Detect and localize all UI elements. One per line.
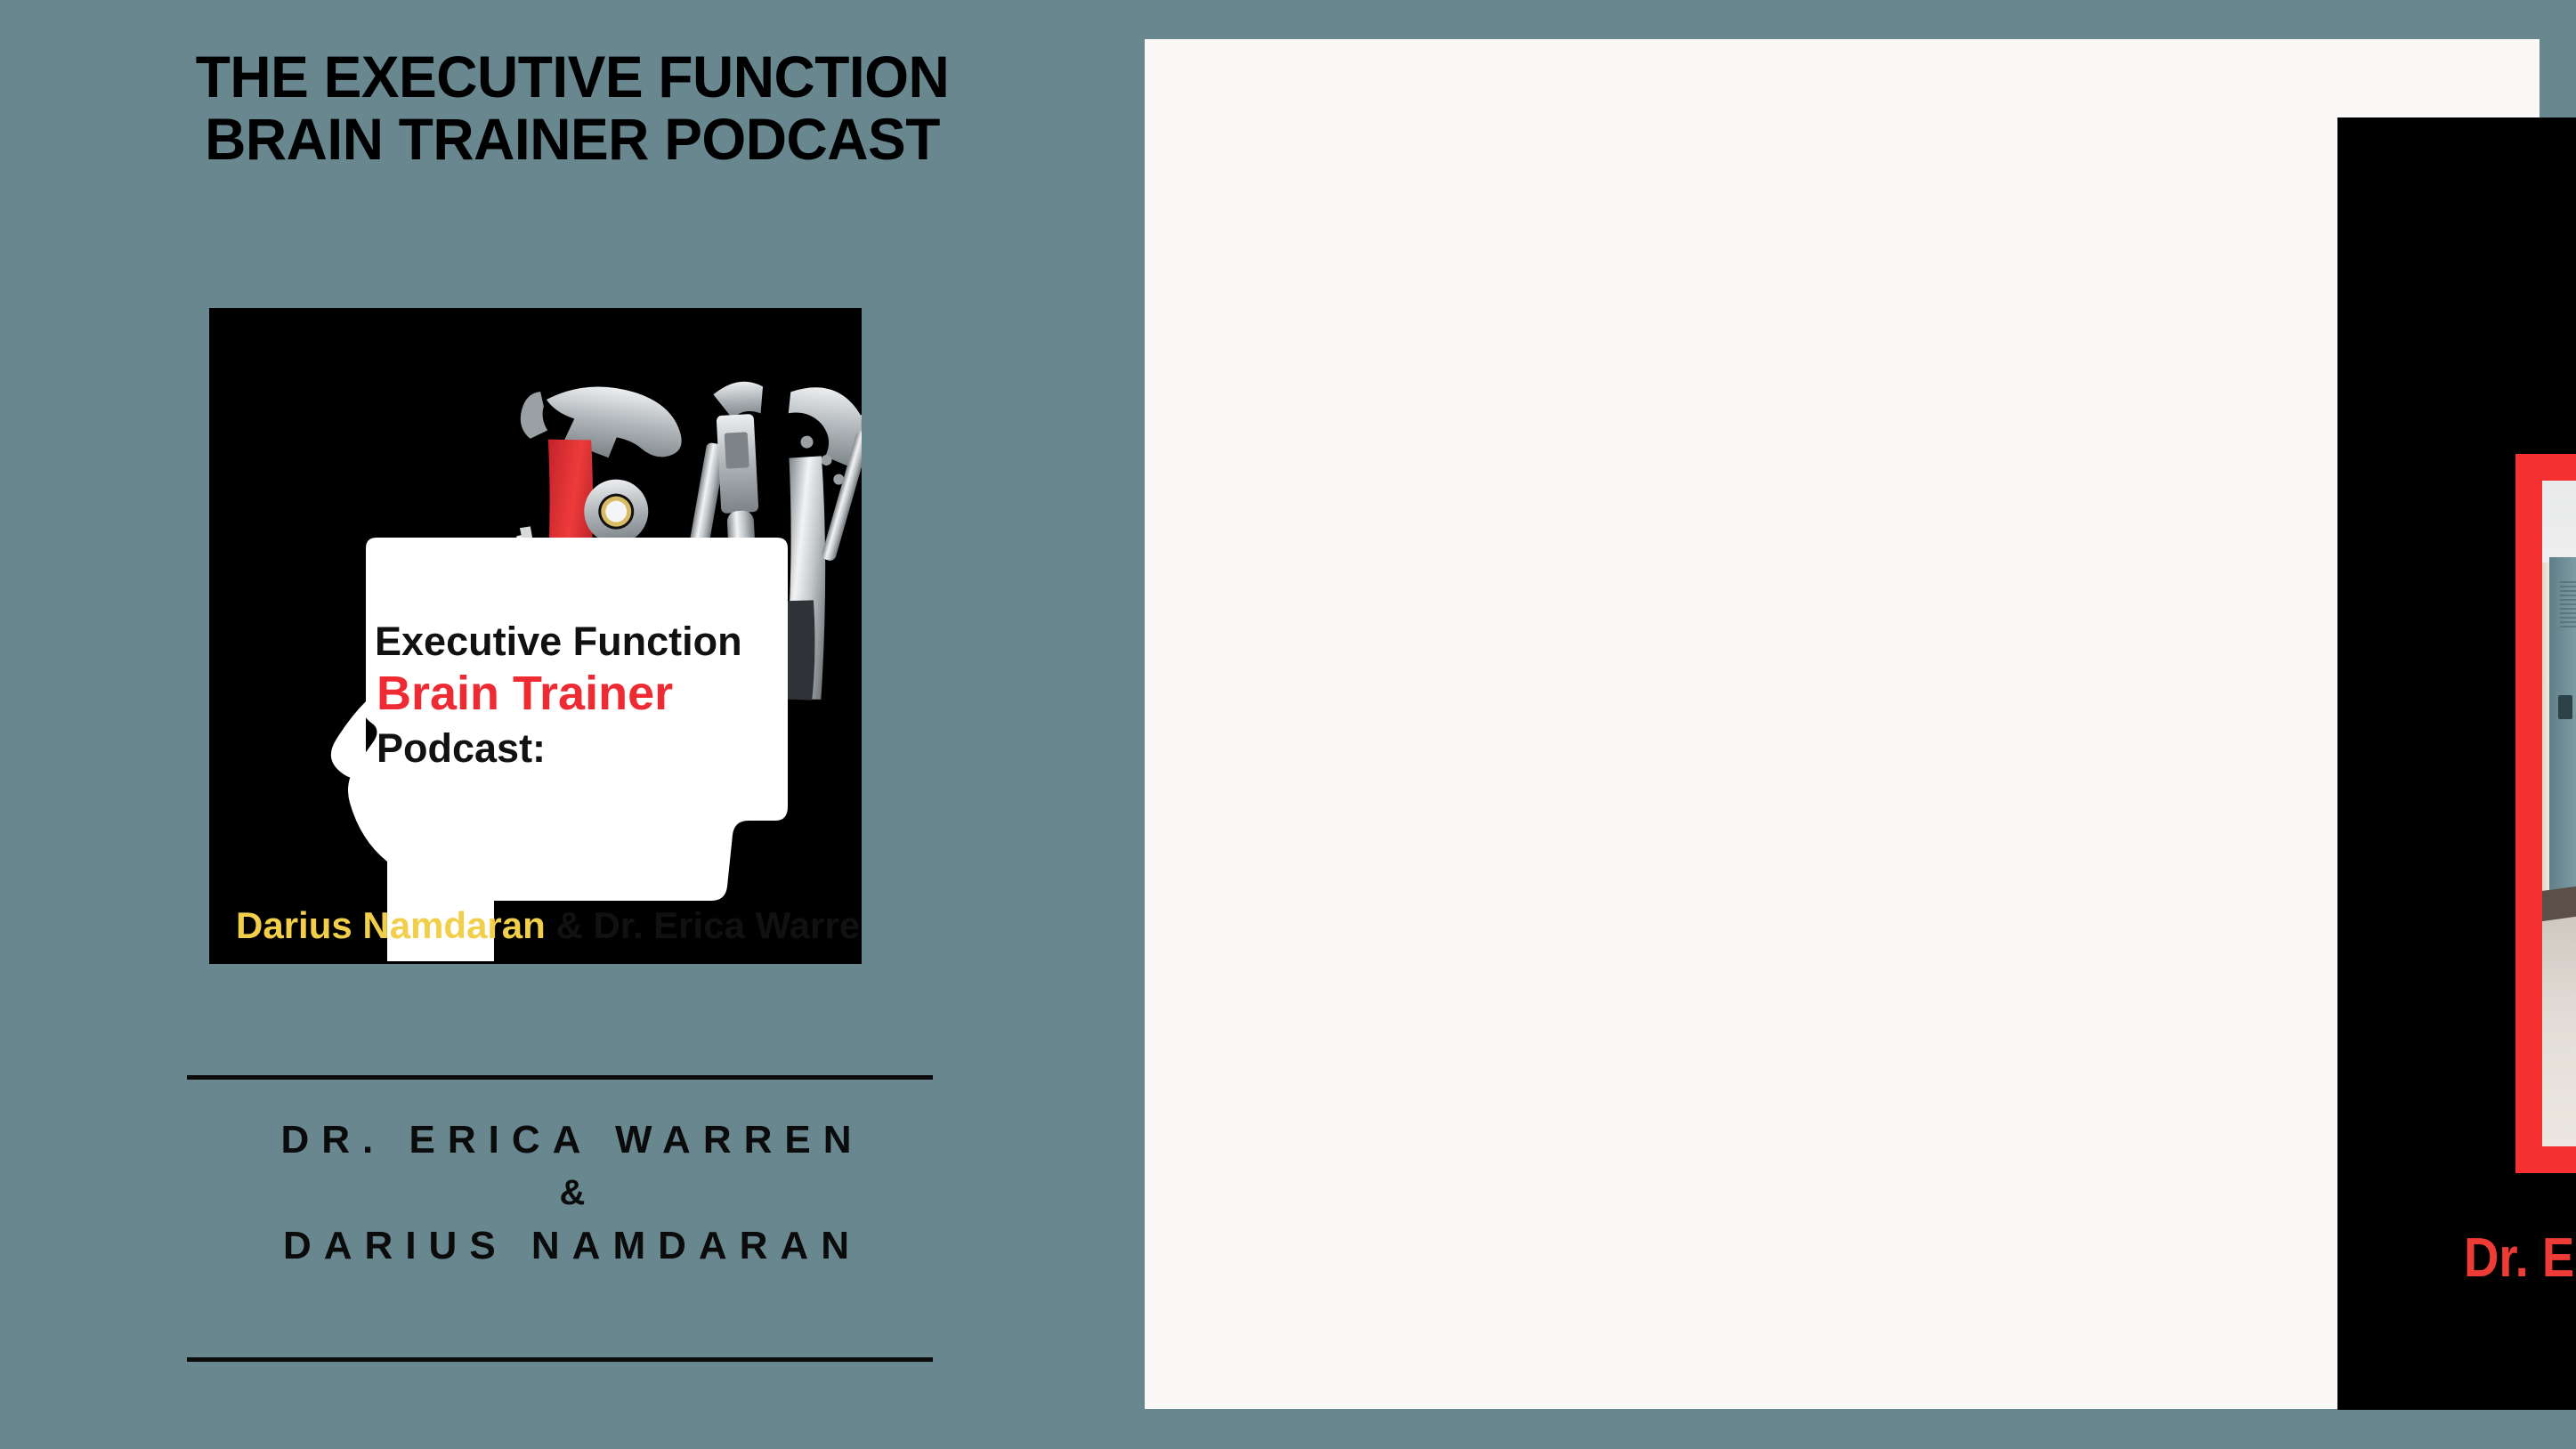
credit-name-2: DARIUS NAMDARAN	[0, 1218, 1145, 1274]
episode-hosts: Dr. Erica Warren & Darius Namdaran	[2422, 1226, 2576, 1290]
cover-hosts-line: Darius Namdaran & Dr. Erica Warren	[236, 904, 862, 947]
cover-hosts-amp: &	[546, 904, 594, 946]
show-title-line-2: BRAIN TRAINER PODCAST	[17, 109, 1127, 171]
podcast-cover-art: Executive Function Brain Trainer Podcast…	[209, 308, 862, 964]
cover-line-executive-function: Executive Function	[375, 621, 742, 661]
episode-title-line-1: How AI and Assistive Tech	[2428, 144, 2576, 208]
cover-host-1: Darius Namdaran	[236, 904, 546, 946]
left-panel: THE EXECUTIVE FUNCTION BRAIN TRAINER POD…	[0, 0, 1145, 1449]
show-title-line-1: THE EXECUTIVE FUNCTION	[17, 46, 1127, 109]
episode-title-line-2: Takes the Dis out of Disabilities	[2428, 208, 2576, 272]
episode-card-frame: How AI and Assistive Tech Takes the Dis …	[1145, 39, 2540, 1409]
wall-column	[2542, 563, 2549, 890]
divider-bottom	[187, 1357, 933, 1362]
episode-card: How AI and Assistive Tech Takes the Dis …	[2337, 117, 2576, 1410]
cover-line-brain-trainer: Brain Trainer	[377, 669, 673, 717]
credits-block: DR. ERICA WARREN & DARIUS NAMDARAN	[0, 1113, 1145, 1275]
divider-top	[187, 1075, 933, 1080]
cover-line-podcast: Podcast:	[377, 728, 546, 768]
credit-ampersand: &	[0, 1168, 1145, 1218]
locker-latch	[2558, 695, 2572, 719]
episode-title: How AI and Assistive Tech Takes the Dis …	[2428, 144, 2576, 271]
cover-host-2: Dr. Erica Warren	[593, 904, 862, 946]
credit-name-1: DR. ERICA WARREN	[0, 1113, 1145, 1168]
episode-photo: DisAbilities	[2542, 481, 2576, 1146]
episode-number: Episode 88:	[2402, 347, 2576, 396]
show-title: THE EXECUTIVE FUNCTION BRAIN TRAINER POD…	[17, 46, 1127, 171]
photo-red-frame: DisAbilities	[2515, 454, 2576, 1173]
locker	[2549, 557, 2576, 903]
